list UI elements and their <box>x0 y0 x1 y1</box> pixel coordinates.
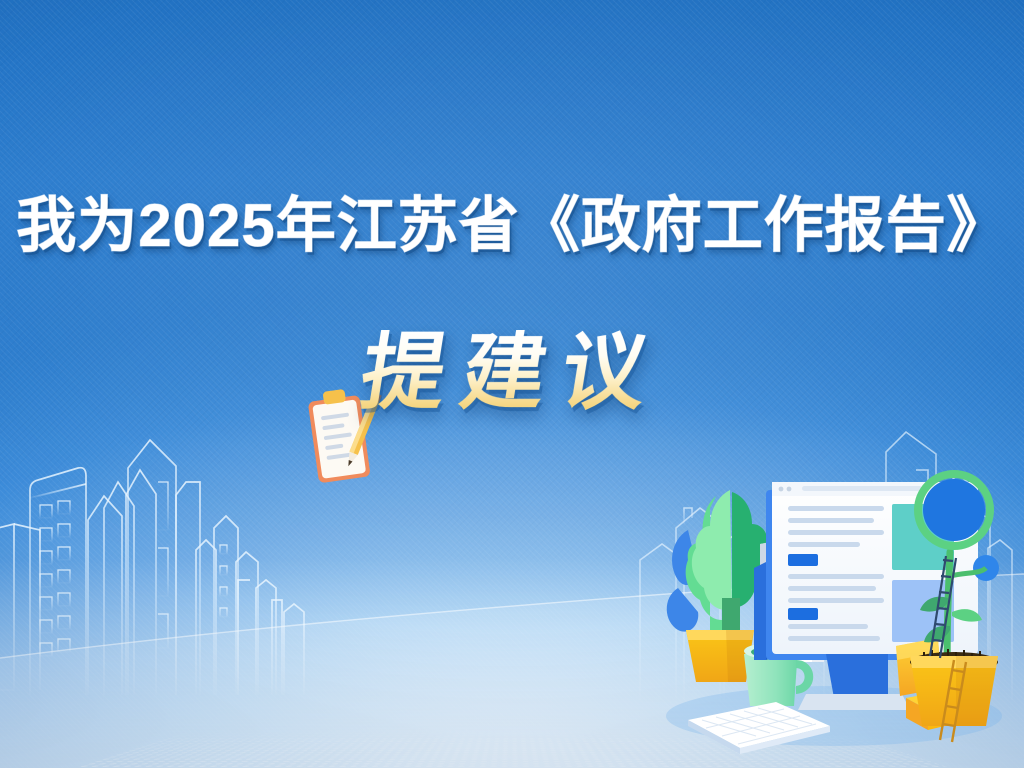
banner-poster: 我为2025年江苏省《政府工作报告》 提建议 <box>0 0 1024 768</box>
page-title: 我为2025年江苏省《政府工作报告》 <box>0 196 1024 256</box>
subtitle-text: 提建议 <box>355 330 668 414</box>
desk-illustration <box>648 448 1024 768</box>
title-main-text: 我为2025年江苏省《政府工作报告》 <box>16 196 1007 256</box>
page-subtitle: 提建议 <box>0 330 1024 414</box>
